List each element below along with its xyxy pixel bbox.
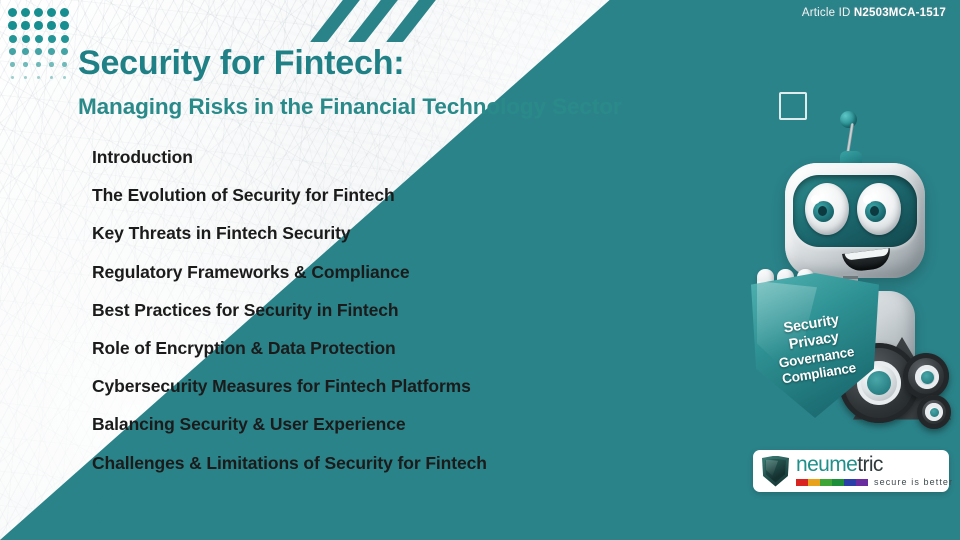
dot — [11, 76, 14, 79]
dot — [21, 21, 30, 30]
robot-antenna-ball — [840, 111, 857, 128]
toc-item-8[interactable]: Balancing Security & User Experience — [92, 405, 732, 443]
dot — [9, 48, 16, 55]
toc-item-5[interactable]: Best Practices for Security in Fintech — [92, 291, 732, 329]
robot-eye-highlight-left — [811, 195, 820, 204]
article-id-label: Article ID — [802, 7, 851, 19]
toc-item-3[interactable]: Key Threats in Fintech Security — [92, 214, 732, 252]
dot — [34, 8, 43, 17]
color-bar-segment — [820, 479, 832, 486]
dot — [47, 21, 56, 30]
dot-grid-row — [6, 45, 71, 58]
stripe — [386, 0, 439, 42]
dot — [62, 62, 67, 67]
dot — [63, 76, 66, 79]
dot — [9, 35, 17, 43]
robot-pupil-left — [818, 206, 827, 216]
robot-hub-core-lower — [930, 408, 939, 417]
toc-item-4[interactable]: Regulatory Frameworks & Compliance — [92, 253, 732, 291]
dot — [23, 62, 28, 67]
dot — [36, 62, 41, 67]
dot — [35, 48, 42, 55]
diagonal-stripes-top — [322, 0, 462, 44]
robot-mascot-illustration: SecurityPrivacyGovernanceCompliance — [735, 105, 960, 435]
dot-grid-row — [6, 19, 71, 32]
dot — [34, 21, 43, 30]
dot-grid-row — [6, 58, 71, 71]
dot — [8, 21, 17, 30]
decorative-dot-grid — [6, 6, 71, 84]
dot — [37, 76, 40, 79]
color-bar-segment — [856, 479, 868, 486]
dot — [61, 48, 68, 55]
dot — [60, 21, 69, 30]
color-bar-segment — [832, 479, 844, 486]
dot — [48, 48, 55, 55]
dot — [50, 76, 53, 79]
dot — [60, 8, 69, 17]
robot-hub-core-upper — [921, 371, 934, 384]
article-id-value: N2503MCA-1517 — [854, 7, 946, 19]
presentation-slide: Article ID N2503MCA-1517 Security for Fi… — [0, 0, 960, 540]
dot — [61, 35, 69, 43]
dot — [22, 48, 29, 55]
slide-title: Security for Fintech: — [78, 44, 404, 83]
dot — [49, 62, 54, 67]
dot — [35, 35, 43, 43]
dot — [21, 8, 30, 17]
dot — [8, 8, 17, 17]
toc-item-7[interactable]: Cybersecurity Measures for Fintech Platf… — [92, 367, 732, 405]
logo-wordmark-part-a: neume — [796, 453, 857, 476]
toc-item-1[interactable]: Introduction — [92, 138, 732, 176]
dot-grid-row — [6, 32, 71, 45]
dot — [48, 35, 56, 43]
article-id: Article ID N2503MCA-1517 — [802, 7, 946, 19]
shield-text: SecurityPrivacyGovernanceCompliance — [741, 272, 888, 424]
dot — [10, 62, 15, 67]
dot — [22, 35, 30, 43]
logo-shield-icon — [762, 456, 789, 487]
dot — [47, 8, 56, 17]
robot-eye-highlight-right — [863, 195, 872, 204]
toc-item-9[interactable]: Challenges & Limitations of Security for… — [92, 444, 732, 482]
color-bar-segment — [796, 479, 808, 486]
logo-wordmark: neumetric — [796, 455, 940, 475]
toc-item-2[interactable]: The Evolution of Security for Fintech — [92, 176, 732, 214]
dot-grid-row — [6, 6, 71, 19]
table-of-contents: IntroductionThe Evolution of Security fo… — [92, 138, 732, 482]
logo-wordmark-part-b: tric — [857, 453, 883, 476]
dot-grid-row — [6, 71, 71, 84]
color-bar-segment — [844, 479, 856, 486]
slide-subtitle: Managing Risks in the Financial Technolo… — [78, 94, 622, 120]
toc-item-6[interactable]: Role of Encryption & Data Protection — [92, 329, 732, 367]
color-bar-segment — [808, 479, 820, 486]
robot-pupil-right — [870, 206, 879, 216]
dot — [24, 76, 27, 79]
logo-color-bar — [796, 479, 868, 486]
logo-tagline: secure is better — [874, 477, 953, 487]
neumetric-logo[interactable]: neumetric secure is better — [753, 450, 949, 492]
